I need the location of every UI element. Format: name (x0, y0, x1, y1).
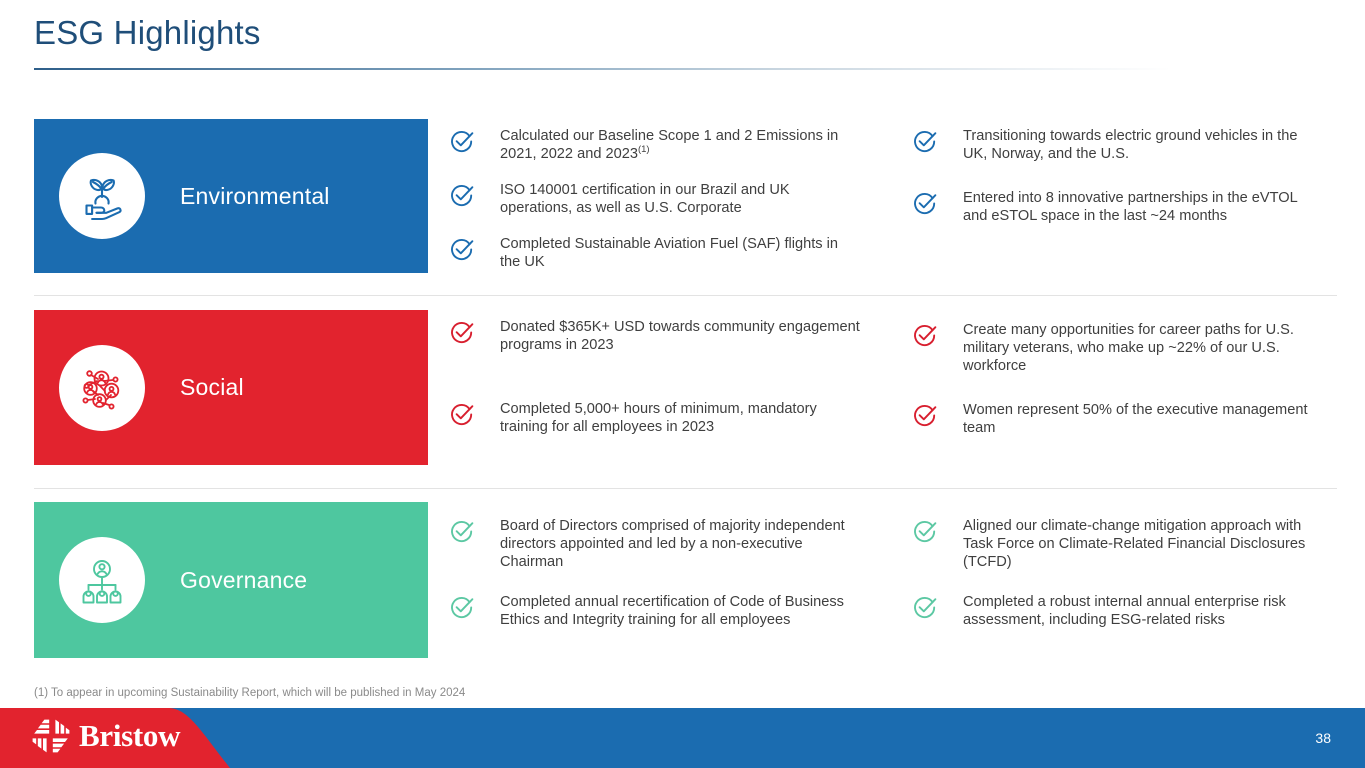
category-label-governance: Governance (180, 567, 307, 594)
category-card-environmental[interactable]: Environmental (34, 119, 428, 273)
category-card-social[interactable]: Social (34, 310, 428, 465)
bullet-text: Create many opportunities for career pat… (963, 321, 1323, 375)
bullet-item: Calculated our Baseline Scope 1 and 2 Em… (448, 127, 863, 163)
check-circle-icon (911, 402, 938, 429)
bullets-social-left: Donated $365K+ USD towards community eng… (448, 310, 863, 482)
bullet-text: Calculated our Baseline Scope 1 and 2 Em… (500, 127, 860, 163)
org-chart-people-icon (73, 551, 131, 609)
bullet-text: Women represent 50% of the executive man… (963, 401, 1323, 437)
page-number: 38 (1315, 730, 1331, 746)
check-circle-icon (448, 236, 475, 263)
category-label-social: Social (180, 374, 244, 401)
bullet-item: Create many opportunities for career pat… (911, 321, 1326, 375)
plant-in-hand-icon (73, 167, 131, 225)
category-label-environmental: Environmental (180, 183, 330, 210)
check-circle-icon (911, 594, 938, 621)
bullet-text: Completed a robust internal annual enter… (963, 593, 1323, 629)
bristow-rotor-icon (32, 719, 70, 753)
bullet-item: Women represent 50% of the executive man… (911, 401, 1326, 437)
check-circle-icon (448, 518, 475, 545)
bullet-item: Donated $365K+ USD towards community eng… (448, 318, 863, 354)
check-circle-icon (448, 319, 475, 346)
bristow-wordmark: Bristow (79, 719, 180, 753)
check-circle-icon (911, 322, 938, 349)
section-governance: Governance Board of Directors comprised … (0, 502, 1365, 658)
check-circle-icon (448, 594, 475, 621)
category-badge-social (59, 345, 145, 431)
check-circle-icon (448, 128, 475, 155)
bullet-text: Aligned our climate-change mitigation ap… (963, 517, 1323, 571)
bullets-environmental-left: Calculated our Baseline Scope 1 and 2 Em… (448, 119, 863, 289)
bullet-text: Transitioning towards electric ground ve… (963, 127, 1323, 163)
footer-bar (0, 708, 1365, 768)
category-card-governance[interactable]: Governance (34, 502, 428, 658)
section-social: Social Donated $365K+ USD towards commun… (0, 310, 1365, 465)
bullet-text: ISO 140001 certification in our Brazil a… (500, 181, 860, 217)
bullet-text: Entered into 8 innovative partnerships i… (963, 189, 1323, 225)
check-circle-icon (911, 128, 938, 155)
check-circle-icon (911, 518, 938, 545)
bullet-item: Completed a robust internal annual enter… (911, 593, 1326, 629)
bullet-item: Completed annual recertification of Code… (448, 593, 863, 629)
bullets-environmental-right: Transitioning towards electric ground ve… (911, 119, 1326, 251)
bullets-governance-right: Aligned our climate-change mitigation ap… (911, 502, 1326, 651)
bullets-governance-left: Board of Directors comprised of majority… (448, 502, 863, 651)
check-circle-icon (448, 182, 475, 209)
bullet-item: Aligned our climate-change mitigation ap… (911, 517, 1326, 571)
page-title: ESG Highlights (34, 12, 261, 54)
bullet-item: Completed Sustainable Aviation Fuel (SAF… (448, 235, 863, 271)
category-badge-governance (59, 537, 145, 623)
bullet-text: Completed annual recertification of Code… (500, 593, 860, 629)
bullet-text: Completed 5,000+ hours of minimum, manda… (500, 400, 860, 436)
section-environmental: Environmental Calculated our Baseline Sc… (0, 119, 1365, 273)
bullet-item: Transitioning towards electric ground ve… (911, 127, 1326, 163)
bullet-item: Completed 5,000+ hours of minimum, manda… (448, 400, 863, 436)
section-divider (34, 295, 1337, 296)
bullet-text: Board of Directors comprised of majority… (500, 517, 860, 571)
bristow-logo[interactable]: Bristow (32, 719, 180, 753)
bullet-item: ISO 140001 certification in our Brazil a… (448, 181, 863, 217)
bullet-text: Donated $365K+ USD towards community eng… (500, 318, 860, 354)
footnote: (1) To appear in upcoming Sustainability… (34, 685, 465, 701)
title-underline-rule (34, 68, 1171, 70)
check-circle-icon (448, 401, 475, 428)
category-badge-environmental (59, 153, 145, 239)
people-network-icon (73, 359, 131, 417)
section-divider (34, 488, 1337, 489)
bullet-item: Entered into 8 innovative partnerships i… (911, 189, 1326, 225)
check-circle-icon (911, 190, 938, 217)
bullet-item: Board of Directors comprised of majority… (448, 517, 863, 571)
footnote-marker: (1) (638, 144, 650, 155)
bullets-social-right: Create many opportunities for career pat… (911, 310, 1326, 463)
bullet-text: Completed Sustainable Aviation Fuel (SAF… (500, 235, 860, 271)
